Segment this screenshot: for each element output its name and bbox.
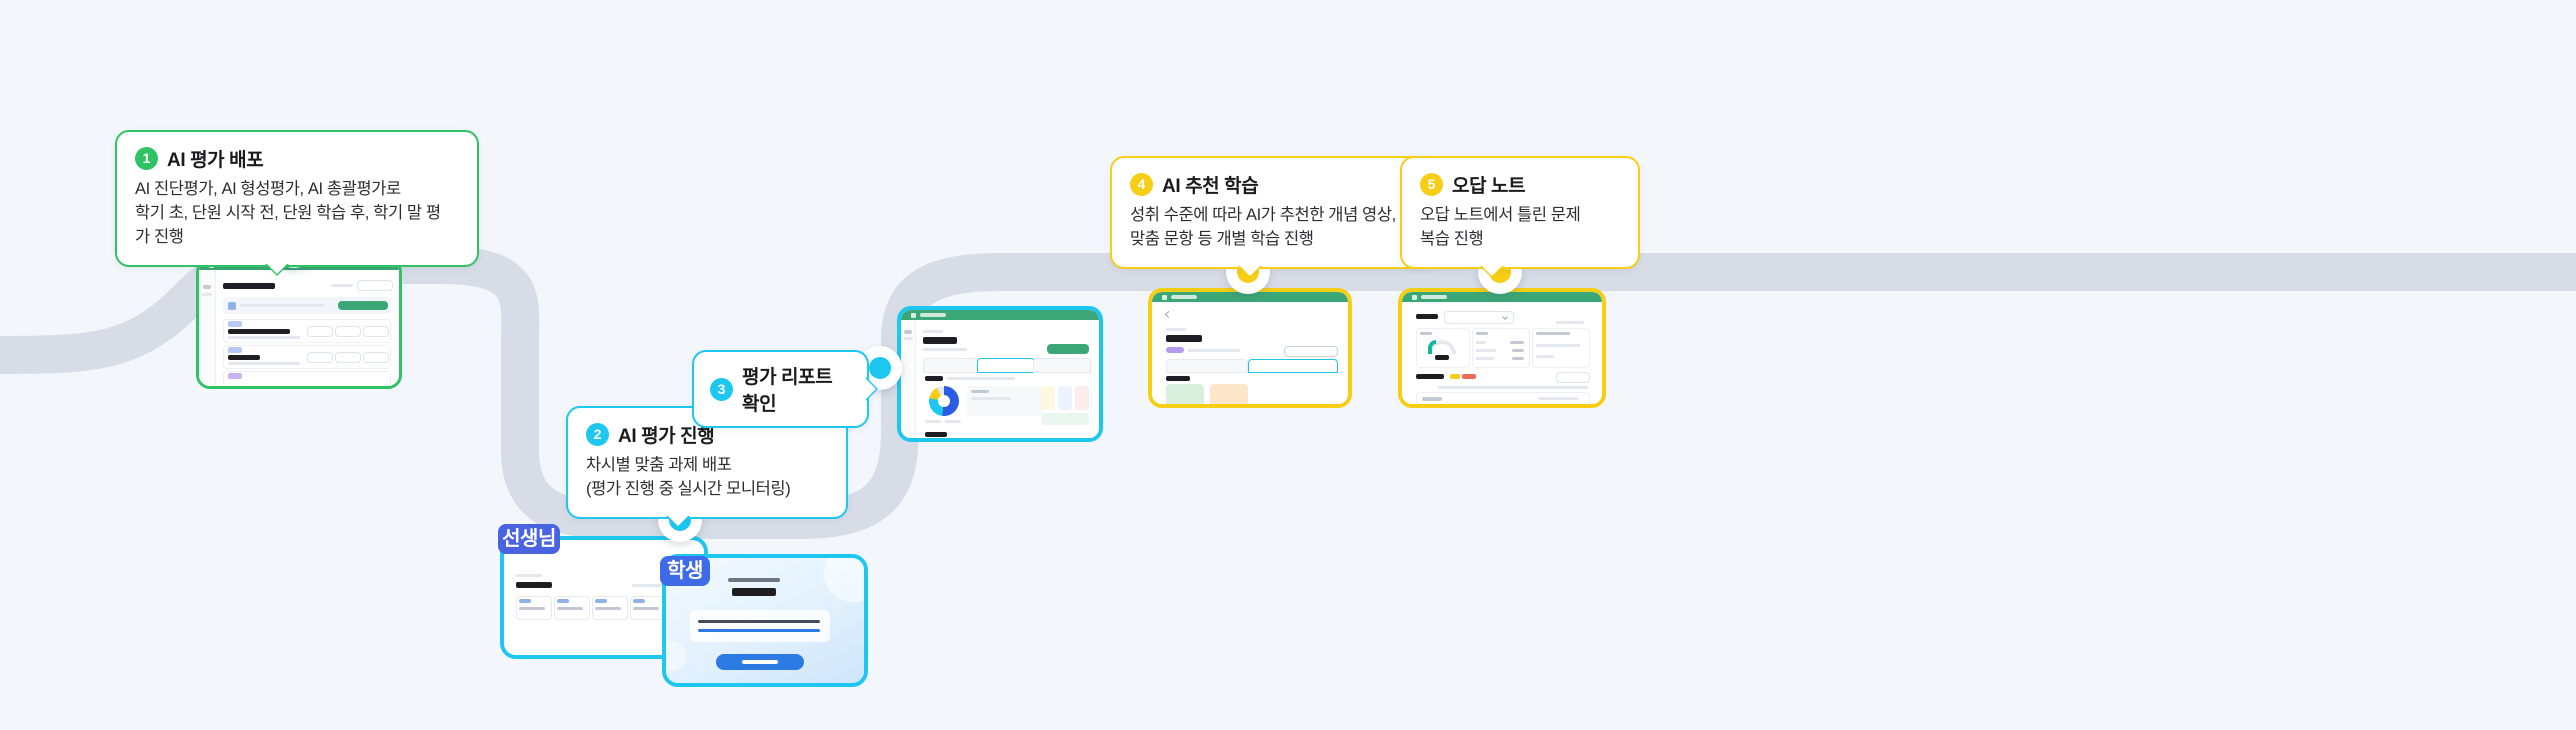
step-title-4: AI 추천 학습 xyxy=(1162,171,1258,198)
gauge-value xyxy=(1435,355,1449,360)
recommend-breadcrumb xyxy=(1166,328,1186,331)
notebook-count-value xyxy=(1510,341,1524,344)
screenshot-deploy[interactable] xyxy=(196,258,402,389)
report-section-title xyxy=(925,376,943,381)
step-title-1: AI 평가 배포 xyxy=(167,145,263,172)
row-meta xyxy=(228,362,300,365)
report-detail-title xyxy=(971,390,989,393)
callout-3-header: 3 평가 리포트 확인 xyxy=(710,362,847,416)
home-icon xyxy=(1412,295,1417,300)
step-number-4: 4 xyxy=(1130,173,1153,196)
row-title xyxy=(228,329,290,334)
student-start-button-label xyxy=(742,660,778,664)
row-tag xyxy=(228,373,242,379)
notebook-row-meta xyxy=(1538,397,1578,400)
teacher-cell-tag xyxy=(557,599,569,603)
donut-legend-item xyxy=(945,420,961,423)
step-number-1: 1 xyxy=(135,147,158,170)
notebook-row-title xyxy=(1422,397,1442,401)
notebook-list-button[interactable] xyxy=(1556,372,1590,383)
notebook-count-title xyxy=(1476,332,1488,335)
home-icon xyxy=(911,313,916,318)
row-meta xyxy=(228,336,300,339)
report-section-note xyxy=(947,377,1015,380)
home-icon xyxy=(1162,295,1167,300)
student-body-line-2 xyxy=(698,629,820,632)
callout-3-tail-fill xyxy=(865,378,876,400)
recommend-tag xyxy=(1166,347,1184,353)
stat-tile xyxy=(1058,386,1072,410)
recommend-card[interactable] xyxy=(1210,384,1248,404)
notebook-filter-label xyxy=(1416,314,1438,319)
callout-step-3[interactable]: 3 평가 리포트 확인 xyxy=(692,350,869,428)
back-icon[interactable] xyxy=(1165,311,1172,318)
notebook-gauge-label xyxy=(1420,332,1432,335)
screenshot-recommend[interactable] xyxy=(1148,288,1352,408)
row-button[interactable] xyxy=(307,326,333,337)
notebook-ui xyxy=(1402,292,1602,404)
teacher-cell-name xyxy=(595,607,621,610)
report-tab-selected[interactable] xyxy=(977,358,1035,373)
report-page-title xyxy=(923,337,957,344)
deploy-page-title xyxy=(223,283,275,289)
report-detail-line xyxy=(971,397,1011,400)
step-desc-5: 오답 노트에서 틀린 문제 복습 진행 xyxy=(1420,204,1616,252)
deploy-ui xyxy=(199,261,399,386)
notebook-table-header xyxy=(1438,386,1588,389)
deploy-notice-text xyxy=(240,304,324,307)
callout-4-header: 4 AI 추천 학습 xyxy=(1130,171,1418,198)
step-desc-4: 성취 수준에 따라 AI가 추천한 개념 영상, 맞춤 문항 등 개별 학습 진… xyxy=(1130,204,1418,252)
recommend-page-title xyxy=(1166,335,1202,342)
recommend-ui xyxy=(1152,292,1348,404)
deploy-notice-button[interactable] xyxy=(338,301,388,310)
diagram-canvas: 1 AI 평가 배포 AI 진단평가, AI 형성평가, AI 총괄평가로 학기… xyxy=(0,0,2576,730)
step-title-5: 오답 노트 xyxy=(1452,171,1525,198)
student-body-box xyxy=(690,610,830,642)
student-title xyxy=(732,588,776,596)
notebook-header-title xyxy=(1421,295,1447,299)
deploy-sidebar-item[interactable] xyxy=(203,285,211,289)
report-table-title xyxy=(925,432,947,437)
decor-circle-large xyxy=(824,558,864,602)
notebook-concept-value xyxy=(1536,344,1580,347)
teacher-cell-name xyxy=(557,607,583,610)
recommend-subtitle xyxy=(1188,349,1240,352)
row-button[interactable] xyxy=(363,326,389,337)
decor-circle-small xyxy=(666,641,686,671)
callout-step-4[interactable]: 4 AI 추천 학습 성취 수준에 따라 AI가 추천한 개념 영상, 맞춤 문… xyxy=(1110,156,1442,269)
row-button[interactable] xyxy=(335,326,361,337)
report-sidebar-item[interactable] xyxy=(904,330,912,334)
row-button[interactable] xyxy=(335,352,361,363)
screenshot-notebook[interactable] xyxy=(1398,288,1606,408)
row-tag xyxy=(228,321,242,327)
callout-4-tail-fill xyxy=(1239,265,1261,276)
callout-1-header: 1 AI 평가 배포 xyxy=(135,145,455,172)
step-number-2: 2 xyxy=(586,423,609,446)
notebook-updated xyxy=(1556,321,1584,324)
gauge-arc-fill xyxy=(1428,340,1436,354)
student-eyebrow xyxy=(728,578,780,582)
deploy-sidebar-sub xyxy=(202,293,212,296)
callout-2-tail-fill xyxy=(667,515,689,526)
callout-5-tail-fill xyxy=(1481,265,1503,276)
teacher-cell-name xyxy=(633,607,659,610)
report-ui xyxy=(901,310,1099,438)
node-dot-3-core xyxy=(869,357,891,379)
report-subtitle xyxy=(923,348,967,351)
deploy-notice-icon xyxy=(228,302,236,310)
notebook-count-value xyxy=(1512,349,1524,352)
report-action-button[interactable] xyxy=(1047,344,1089,354)
recommend-action-button[interactable] xyxy=(1284,346,1338,357)
notebook-list-title xyxy=(1416,374,1444,379)
stat-tile xyxy=(1041,386,1055,410)
donut-hole xyxy=(938,395,950,407)
role-badge-student: 학생 xyxy=(660,556,710,586)
teacher-breadcrumb xyxy=(516,574,542,577)
deploy-filter-left[interactable] xyxy=(331,284,353,287)
report-ui-header xyxy=(901,310,1099,320)
screenshot-report[interactable] xyxy=(897,306,1103,442)
row-button[interactable] xyxy=(307,352,333,363)
callout-step-1[interactable]: 1 AI 평가 배포 AI 진단평가, AI 형성평가, AI 총괄평가로 학기… xyxy=(115,130,479,267)
donut-legend-item xyxy=(925,420,941,423)
callout-1-tail-fill xyxy=(266,263,288,274)
teacher-cell-name xyxy=(519,607,545,610)
notebook-count-row xyxy=(1476,357,1494,360)
notebook-concept-sub xyxy=(1536,355,1554,358)
notebook-count-row xyxy=(1476,349,1496,352)
teacher-cell-tag xyxy=(519,599,531,603)
table-row[interactable] xyxy=(223,371,391,386)
report-tab[interactable] xyxy=(923,358,979,373)
report-tab[interactable] xyxy=(1033,358,1091,373)
report-breadcrumb xyxy=(923,330,943,333)
student-body-line-1 xyxy=(698,620,820,623)
row-title xyxy=(228,355,260,360)
callout-step-5[interactable]: 5 오답 노트 오답 노트에서 틀린 문제 복습 진행 xyxy=(1400,156,1640,269)
step-desc-2: 차시별 맞춤 과제 배포 (평가 진행 중 실시간 모니터링) xyxy=(586,454,824,502)
teacher-cell-tag xyxy=(595,599,607,603)
notebook-concept-title xyxy=(1536,332,1570,335)
teacher-cell-tag xyxy=(633,599,645,603)
role-badge-teacher: 선생님 xyxy=(498,524,560,554)
teacher-page-title xyxy=(516,582,552,588)
report-header-title xyxy=(920,313,946,317)
notebook-count-value xyxy=(1512,357,1524,360)
recommend-tab[interactable] xyxy=(1166,359,1248,373)
callout-5-header: 5 오답 노트 xyxy=(1420,171,1616,198)
stat-tile xyxy=(1075,386,1089,410)
step-title-3: 평가 리포트 확인 xyxy=(742,362,847,416)
step-number-3: 3 xyxy=(710,378,733,401)
row-button[interactable] xyxy=(363,352,389,363)
step-number-5: 5 xyxy=(1420,173,1443,196)
recommend-header-title xyxy=(1171,295,1197,299)
notebook-list-tag xyxy=(1450,374,1460,379)
recommend-tab-selected[interactable] xyxy=(1248,359,1338,373)
notebook-list-tag xyxy=(1462,374,1476,379)
row-tag xyxy=(228,347,242,353)
report-sidebar-sub xyxy=(903,337,913,340)
recommend-card[interactable] xyxy=(1166,384,1204,404)
step-desc-1: AI 진단평가, AI 형성평가, AI 총괄평가로 학기 초, 단원 시작 전… xyxy=(135,178,455,250)
recommend-section-title xyxy=(1166,376,1190,381)
deploy-filter-right[interactable] xyxy=(357,280,393,291)
summary-bar xyxy=(1041,413,1089,425)
notebook-count-row xyxy=(1476,341,1486,344)
